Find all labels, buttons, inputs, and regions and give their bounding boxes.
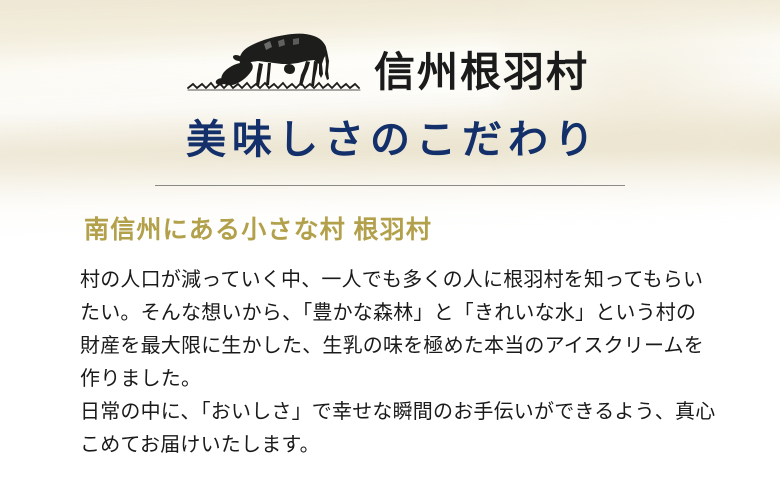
product-story-page: 信州根羽村 美味しさのこだわり 南信州にある小さな村 根羽村 村の人口が減ってい… [0,0,780,484]
brand-header: 信州根羽村 [0,16,780,98]
page-title: 美味しさのこだわり [0,118,780,162]
story-paragraph-1: 村の人口が減っていく中、一人でも多くの人に根羽村を知ってもらいたい。そんな想いか… [80,264,716,396]
grazing-cow-icon [186,16,362,98]
background-fade-to-white [0,150,780,280]
section-heading: 南信州にある小さな村 根羽村 [84,216,432,246]
brand-name: 信州根羽村 [374,52,589,93]
story-body: 村の人口が減っていく中、一人でも多くの人に根羽村を知ってもらいたい。そんな想いか… [80,264,716,462]
title-divider [155,185,625,186]
story-paragraph-2: 日常の中に、「おいしさ」で幸せな瞬間のお手伝いができるよう、真心こめてお届けいた… [80,396,716,462]
